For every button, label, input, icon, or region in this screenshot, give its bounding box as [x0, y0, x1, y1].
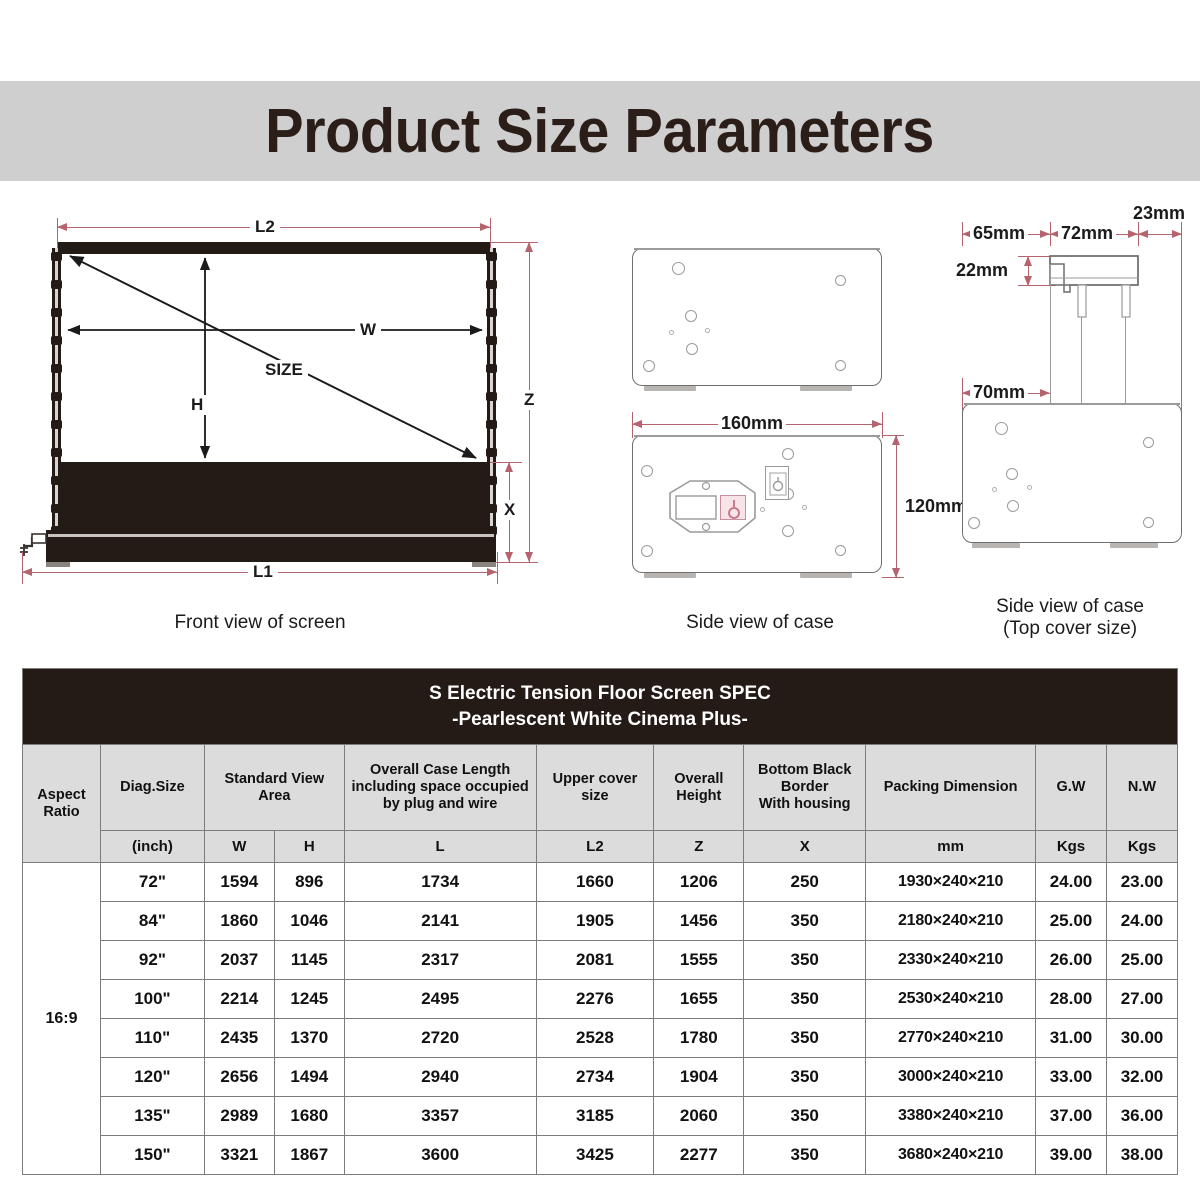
small-hole — [1027, 485, 1032, 490]
cell-l2: 2276 — [536, 980, 654, 1019]
cell-w: 1594 — [204, 863, 274, 902]
cell-l: 2317 — [344, 941, 536, 980]
small-hole — [992, 487, 997, 492]
table-row: 100" 2214 1245 2495 2276 1655 350 2530×2… — [23, 980, 1178, 1019]
header-nw: N.W — [1106, 745, 1177, 831]
cell-z: 1206 — [654, 863, 744, 902]
header-overall-height: Overall Height — [654, 745, 744, 831]
cell-packing: 3000×240×210 — [866, 1058, 1036, 1097]
header-case-length-line3: by plug and wire — [348, 796, 533, 813]
top-cover-view-diagram: 23mm 65mm 72mm 22mm — [940, 200, 1195, 610]
cell-h: 1145 — [274, 941, 344, 980]
cell-gw: 33.00 — [1036, 1058, 1107, 1097]
cell-h: 1046 — [274, 902, 344, 941]
cell-diag-size: 110" — [100, 1019, 204, 1058]
header-standard-view-line1: Standard View — [208, 771, 341, 788]
cell-packing: 2530×240×210 — [866, 980, 1036, 1019]
cell-gw: 31.00 — [1036, 1019, 1107, 1058]
z-arrow-up — [525, 242, 533, 252]
cell-w: 2989 — [204, 1097, 274, 1136]
cell-packing: 2770×240×210 — [866, 1019, 1036, 1058]
unit-l: L — [344, 831, 536, 863]
cell-diag-size: 92" — [100, 941, 204, 980]
cell-nw: 23.00 — [1106, 863, 1177, 902]
arrow-70-right — [1040, 389, 1050, 397]
power-button-plate[interactable] — [765, 466, 789, 500]
spec-table: S Electric Tension Floor Screen SPEC -Pe… — [22, 668, 1178, 1175]
front-view-diagram: L2 — [10, 200, 570, 610]
cell-l: 2720 — [344, 1019, 536, 1058]
cell-l: 2495 — [344, 980, 536, 1019]
cell-h: 1867 — [274, 1136, 344, 1175]
l1-arrow-right — [487, 568, 497, 576]
unit-inch: (inch) — [100, 831, 204, 863]
cover-foot-right — [1110, 543, 1158, 548]
table-group-header-row: Aspect Ratio Diag.Size Standard View Are… — [23, 745, 1178, 831]
header-bottom-border-line3: With housing — [747, 796, 862, 813]
cell-h: 1494 — [274, 1058, 344, 1097]
cell-gw: 24.00 — [1036, 863, 1107, 902]
cell-aspect-ratio-value: 16:9 — [23, 863, 101, 1175]
header-bottom-border-line1: Bottom Black — [747, 762, 862, 779]
cell-h: 1370 — [274, 1019, 344, 1058]
table-title-row: S Electric Tension Floor Screen SPEC -Pe… — [23, 669, 1178, 745]
cell-w: 2435 — [204, 1019, 274, 1058]
unit-h: H — [274, 831, 344, 863]
table-title-line2: -Pearlescent White Cinema Plus- — [27, 707, 1173, 733]
mounting-hole — [1006, 468, 1018, 480]
header-upper-cover-line2: size — [540, 788, 651, 805]
height-arrow-up — [892, 435, 900, 445]
table-title-cell: S Electric Tension Floor Screen SPEC -Pe… — [23, 669, 1178, 745]
top-cover-caption-line2: (Top cover size) — [935, 618, 1200, 640]
cell-x: 350 — [744, 980, 866, 1019]
mounting-hole — [968, 517, 980, 529]
cell-z: 1780 — [654, 1019, 744, 1058]
mounting-hole — [1143, 437, 1154, 448]
l1-tick-right — [497, 552, 498, 584]
cell-z: 1904 — [654, 1058, 744, 1097]
cell-w: 2037 — [204, 941, 274, 980]
cell-packing: 3680×240×210 — [866, 1136, 1036, 1175]
mounting-hole — [1007, 500, 1019, 512]
page-title: Product Size Parameters — [266, 96, 935, 167]
cell-l2: 3425 — [536, 1136, 654, 1175]
unit-z: Z — [654, 831, 744, 863]
case-foot-left-lower — [644, 573, 696, 578]
header-case-length-line1: Overall Case Length — [348, 762, 533, 779]
header-aspect-ratio-line1: Aspect — [26, 787, 97, 804]
header-aspect-ratio-line2: Ratio — [26, 804, 97, 821]
spec-table-container: S Electric Tension Floor Screen SPEC -Pe… — [22, 668, 1178, 1175]
header-aspect-ratio: Aspect Ratio — [23, 745, 101, 863]
cell-h: 1680 — [274, 1097, 344, 1136]
cell-nw: 24.00 — [1106, 902, 1177, 941]
cell-nw: 25.00 — [1106, 941, 1177, 980]
header-bottom-border-line2: Border — [747, 779, 862, 796]
l1-arrow-left — [22, 568, 32, 576]
front-view-caption: Front view of screen — [100, 612, 420, 634]
cell-nw: 36.00 — [1106, 1097, 1177, 1136]
cell-l2: 2081 — [536, 941, 654, 980]
cell-w: 2214 — [204, 980, 274, 1019]
table-row: 150" 3321 1867 3600 3425 2277 350 3680×2… — [23, 1136, 1178, 1175]
label-l1: L1 — [248, 562, 278, 582]
cell-z: 2060 — [654, 1097, 744, 1136]
cell-diag-size: 72" — [100, 863, 204, 902]
cell-gw: 28.00 — [1036, 980, 1107, 1019]
height-tick-bottom — [882, 577, 904, 578]
cell-w: 3321 — [204, 1136, 274, 1175]
cell-gw: 25.00 — [1036, 902, 1107, 941]
side-view-diagram: 160mm — [610, 200, 930, 610]
table-unit-header-row: (inch) W H L L2 Z X mm Kgs Kgs — [23, 831, 1178, 863]
cell-w: 1860 — [204, 902, 274, 941]
cell-l: 2940 — [344, 1058, 536, 1097]
unit-nw-kgs: Kgs — [1106, 831, 1177, 863]
height-tick-top — [882, 435, 904, 436]
table-row: 135" 2989 1680 3357 3185 2060 350 3380×2… — [23, 1097, 1178, 1136]
mounting-hole — [995, 422, 1008, 435]
label-x: X — [499, 500, 520, 520]
header-standard-view-area: Standard View Area — [204, 745, 344, 831]
cell-diag-size: 84" — [100, 902, 204, 941]
cell-l2: 1905 — [536, 902, 654, 941]
cover-foot-left — [972, 543, 1020, 548]
top-cover-caption-line1: Side view of case — [935, 596, 1200, 618]
header-bottom-black-border: Bottom Black Border With housing — [744, 745, 866, 831]
cell-l2: 3185 — [536, 1097, 654, 1136]
cell-l: 2141 — [344, 902, 536, 941]
cell-l2: 1660 — [536, 863, 654, 902]
header-overall-case-length: Overall Case Length including space occu… — [344, 745, 536, 831]
label-z: Z — [519, 390, 539, 410]
x-arrow-down — [505, 552, 513, 562]
side-view-caption: Side view of case — [620, 612, 900, 634]
z-tick-bottom — [496, 562, 538, 563]
h-dimension-arrow — [10, 200, 570, 610]
table-row: 16:9 72" 1594 896 1734 1660 1206 250 193… — [23, 863, 1178, 902]
cell-gw: 26.00 — [1036, 941, 1107, 980]
cell-packing: 2330×240×210 — [866, 941, 1036, 980]
cell-z: 1456 — [654, 902, 744, 941]
mounting-hole — [1143, 517, 1154, 528]
case-foot-right-lower — [800, 573, 852, 578]
unit-mm: mm — [866, 831, 1036, 863]
cell-nw: 32.00 — [1106, 1058, 1177, 1097]
cell-x: 350 — [744, 1058, 866, 1097]
cell-x: 350 — [744, 1136, 866, 1175]
cell-x: 350 — [744, 941, 866, 980]
header-upper-cover-line1: Upper cover — [540, 771, 651, 788]
cell-nw: 27.00 — [1106, 980, 1177, 1019]
cell-l: 3600 — [344, 1136, 536, 1175]
cell-h: 1245 — [274, 980, 344, 1019]
table-row: 110" 2435 1370 2720 2528 1780 350 2770×2… — [23, 1019, 1178, 1058]
cell-diag-size: 120" — [100, 1058, 204, 1097]
cell-l2: 2734 — [536, 1058, 654, 1097]
header-case-length-line2: including space occupied — [348, 779, 533, 796]
table-row: 120" 2656 1494 2940 2734 1904 350 3000×2… — [23, 1058, 1178, 1097]
cell-x: 350 — [744, 902, 866, 941]
unit-l2: L2 — [536, 831, 654, 863]
label-h: H — [186, 395, 208, 415]
cell-w: 2656 — [204, 1058, 274, 1097]
cell-l: 1734 — [344, 863, 536, 902]
cell-z: 1555 — [654, 941, 744, 980]
table-row: 84" 1860 1046 2141 1905 1456 350 2180×24… — [23, 902, 1178, 941]
diagram-area: L2 — [0, 190, 1200, 650]
cell-nw: 30.00 — [1106, 1019, 1177, 1058]
cell-x: 250 — [744, 863, 866, 902]
header-diag-size: Diag.Size — [100, 745, 204, 831]
cell-packing: 2180×240×210 — [866, 902, 1036, 941]
header-gw: G.W — [1036, 745, 1107, 831]
header-overall-height-line1: Overall — [657, 771, 740, 788]
cell-packing: 3380×240×210 — [866, 1097, 1036, 1136]
table-row: 92" 2037 1145 2317 2081 1555 350 2330×24… — [23, 941, 1178, 980]
cell-nw: 38.00 — [1106, 1136, 1177, 1175]
cell-x: 350 — [744, 1097, 866, 1136]
case-height-dimension-line — [896, 435, 897, 578]
header-packing-dimension: Packing Dimension — [866, 745, 1036, 831]
header-overall-height-line2: Height — [657, 788, 740, 805]
cell-diag-size: 150" — [100, 1136, 204, 1175]
cell-l: 3357 — [344, 1097, 536, 1136]
table-title-line1: S Electric Tension Floor Screen SPEC — [27, 681, 1173, 707]
cell-z: 1655 — [654, 980, 744, 1019]
label-70mm: 70mm — [970, 382, 1028, 403]
title-band: Product Size Parameters — [0, 81, 1200, 181]
cell-l2: 2528 — [536, 1019, 654, 1058]
cell-x: 350 — [744, 1019, 866, 1058]
cell-diag-size: 100" — [100, 980, 204, 1019]
unit-x: X — [744, 831, 866, 863]
cell-gw: 37.00 — [1036, 1097, 1107, 1136]
cell-gw: 39.00 — [1036, 1136, 1107, 1175]
z-arrow-down — [525, 552, 533, 562]
x-arrow-up — [505, 462, 513, 472]
cell-h: 896 — [274, 863, 344, 902]
cell-z: 2277 — [654, 1136, 744, 1175]
header-standard-view-line2: Area — [208, 788, 341, 805]
unit-w: W — [204, 831, 274, 863]
cell-packing: 1930×240×210 — [866, 863, 1036, 902]
header-upper-cover-size: Upper cover size — [536, 745, 654, 831]
cover-case-topline — [964, 403, 1180, 405]
power-inlet-icon — [610, 200, 930, 610]
cell-diag-size: 135" — [100, 1097, 204, 1136]
unit-gw-kgs: Kgs — [1036, 831, 1107, 863]
power-rocker-switch[interactable] — [720, 495, 746, 520]
